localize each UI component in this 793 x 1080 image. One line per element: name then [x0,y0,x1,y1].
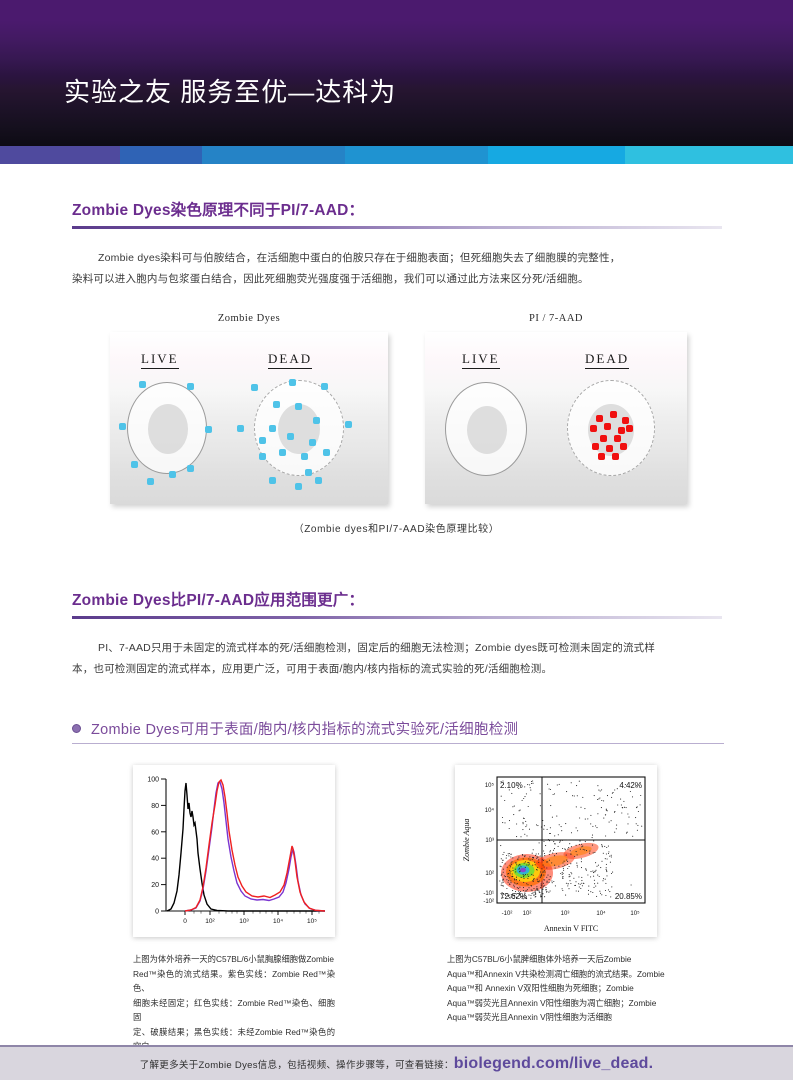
scatter-point [509,820,510,821]
scatter-point [526,824,527,825]
scatter-point [520,896,521,897]
zombie-dye-particle [260,454,265,459]
hist-ytick: 20 [151,882,159,889]
dotplot-ytick: 10⁵ [485,782,495,789]
scatter-point [540,871,541,872]
scatter-point [604,846,605,847]
scatter-point [505,893,506,894]
scatter-point [627,823,628,824]
scatter-point [533,875,534,876]
scatter-point [538,853,539,854]
diagram-zombie-dyes: LIVE DEAD [110,332,388,504]
scatter-point [550,805,551,806]
scatter-point [631,884,632,885]
scatter-point [585,868,586,869]
scatter-point [514,882,515,883]
scatter-point [513,814,514,815]
scatter-point [512,867,513,868]
scatter-point [585,841,586,842]
scatter-point [549,879,550,880]
scatter-point [621,812,622,813]
scatter-point [516,836,517,837]
section1-heading-rule [72,226,722,229]
scatter-point [616,825,617,826]
scatter-point [520,866,521,867]
scatter-point [550,876,551,877]
scatter-point [561,826,562,827]
scatter-point [626,833,627,834]
live-cell-nucleus-zombie [148,404,188,454]
zombie-dye-particle [316,478,321,483]
scatter-point [519,864,520,865]
scatter-point [529,784,530,785]
scatter-point [502,860,503,861]
dotplot-xtick: 10⁴ [596,910,606,917]
scatter-point [569,880,570,881]
scatter-point [620,799,621,800]
scatter-point [597,813,598,814]
scatter-point [554,855,555,856]
scatter-point [528,858,529,859]
scatter-point [523,890,524,891]
page-root: 实验之友 服务至优—达科为 Zombie Dyes染色原理不同于PI/7-AAD… [0,0,793,1080]
scatter-point [606,869,607,870]
scatter-point [512,890,513,891]
scatter-point [576,827,577,828]
scatter-point [541,885,542,886]
scatter-point [522,896,523,897]
scatter-point [550,833,551,834]
scatter-point [511,861,512,862]
scatter-point [603,800,604,801]
scatter-point [601,844,602,845]
scatter-point [606,853,607,854]
scatter-point [601,894,602,895]
scatter-point [549,860,550,861]
zombie-dye-particle [148,479,153,484]
scatter-point [527,884,528,885]
scatter-point [560,841,561,842]
zombie-dye-particle [324,450,329,455]
segment-blue-1 [120,146,202,164]
scatter-point [590,876,591,877]
zombie-dye-particle [290,380,295,385]
scatter-point [592,835,593,836]
pi-dye-particle [619,428,624,433]
section2-paragraph-line2: 本，也可检测固定的流式样本，应用更广泛，可用于表面/胞内/核内指标的流式实验的死… [72,659,724,680]
scatter-point [606,875,607,876]
scatter-point [532,865,533,866]
scatter-point [567,885,568,886]
section2-heading: Zombie Dyes比PI/7-AAD应用范围更广： [72,588,722,610]
scatter-point [518,869,519,870]
dotplot-caption-line-4: Aqua™弱荧光且Annexin V阳性细胞为凋亡细胞；Zombie [447,996,665,1011]
scatter-point [546,891,547,892]
scatter-point [508,853,509,854]
scatter-point [602,880,603,881]
scatter-point [515,891,516,892]
dotplot-card: Zombie Aqua Annexin V FITC -10²-10¹10²10… [455,765,657,937]
scatter-point [526,864,527,865]
scatter-point [534,878,535,879]
scatter-point [564,865,565,866]
scatter-point [640,782,641,783]
pi-dye-particle [601,436,606,441]
scatter-point [635,786,636,787]
scatter-point [579,781,580,782]
scatter-point [554,865,555,866]
scatter-point [536,853,537,854]
scatter-point [523,798,524,799]
page-title: 实验之友 服务至优—达科为 [64,72,396,109]
hist-xtick: 10² [205,918,215,925]
scatter-point [559,784,560,785]
scatter-point [637,806,638,807]
scatter-point [608,853,609,854]
scatter-point [599,797,600,798]
scatter-point [605,890,606,891]
scatter-point [538,890,539,891]
section2-paragraph-line1: PI、7-AAD只用于未固定的流式样本的死/活细胞检测，固定后的细胞无法检测；Z… [72,638,724,659]
scatter-point [581,867,582,868]
scatter-point [530,895,531,896]
scatter-point [541,875,542,876]
scatter-point [543,829,544,830]
scatter-point [531,783,532,784]
scatter-point [537,867,538,868]
scatter-point [601,789,602,790]
scatter-point [576,806,577,807]
scatter-point [590,891,591,892]
scatter-point [600,893,601,894]
histogram-caption-line-1: 上图为体外培养一天的C57BL/6小鼠胸腺细胞做Zombie [133,952,335,967]
scatter-point [511,854,512,855]
scatter-point [543,865,544,866]
scatter-point [538,862,539,863]
scatter-point [503,872,504,873]
dotplot-xlabel: Annexin V FITC [544,924,598,933]
scatter-point [531,889,532,890]
scatter-point [558,834,559,835]
scatter-point [581,846,582,847]
scatter-point [505,863,506,864]
scatter-point [505,895,506,896]
scatter-point [508,896,509,897]
scatter-point [596,866,597,867]
scatter-point [626,807,627,808]
scatter-point [599,876,600,877]
scatter-point [502,885,503,886]
scatter-point [501,796,502,797]
scatter-point [540,876,541,877]
scatter-point [544,885,545,886]
scatter-point [566,855,567,856]
scatter-point [526,898,527,899]
scatter-point [637,830,638,831]
zombie-dye-particle [288,434,293,439]
scatter-point [509,828,510,829]
scatter-point [527,784,528,785]
scatter-point [548,892,549,893]
dotplot-caption-line-2: Aqua™和Annexin V共染检测凋亡细胞的流式结果。Zombie [447,967,665,982]
scatter-point [510,872,511,873]
scatter-point [512,857,513,858]
scatter-point [544,870,545,871]
scatter-point [516,823,517,824]
zombie-dye-particle [346,422,351,427]
scatter-point [628,817,629,818]
scatter-point [566,791,567,792]
hist-ytick: 40 [151,856,159,863]
section1-heading: Zombie Dyes染色原理不同于PI/7-AAD： [72,198,722,220]
pi-dye-particle [593,444,598,449]
scatter-point [593,840,594,841]
scatter-point [506,888,507,889]
scatter-point [547,881,548,882]
scatter-point [549,788,550,789]
scatter-point [502,817,503,818]
scatter-point [562,874,563,875]
section2-heading-rule [72,616,722,619]
scatter-point [590,823,591,824]
scatter-point [605,879,606,880]
scatter-point [586,870,587,871]
scatter-point [636,823,637,824]
scatter-point [525,874,526,875]
scatter-point [541,826,542,827]
scatter-point [526,835,527,836]
scatter-point [566,860,567,861]
scatter-point [539,892,540,893]
scatter-point [570,854,571,855]
scatter-point [562,862,563,863]
zombie-dye-particle [280,450,285,455]
scatter-point [530,860,531,861]
scatter-point [522,854,523,855]
scatter-point [564,861,565,862]
scatter-point [509,789,510,790]
section2-heading-block: Zombie Dyes比PI/7-AAD应用范围更广： [72,588,722,619]
scatter-point [608,889,609,890]
scatter-point [540,805,541,806]
scatter-point [502,862,503,863]
scatter-point [588,894,589,895]
scatter-point [594,852,595,853]
scatter-point [512,873,513,874]
zombie-dye-particle [270,478,275,483]
footer-link[interactable]: biolegend.com/live_dead. [454,1055,654,1073]
scatter-point [606,867,607,868]
scatter-point [530,790,531,791]
scatter-point [527,862,528,863]
scatter-point [540,895,541,896]
section1-paragraph: Zombie dyes染料可与伯胺结合，在活细胞中蛋白的伯胺只存在于细胞表面；但… [72,248,724,290]
panel-title-zombie-dyes: Zombie Dyes [110,313,388,324]
scatter-point [571,782,572,783]
scatter-point [556,853,557,854]
dotplot-ytick: 10³ [485,838,494,844]
scatter-point [523,823,524,824]
scatter-point [545,887,546,888]
scatter-point [592,845,593,846]
scatter-point [546,877,547,878]
scatter-point [506,879,507,880]
scatter-point [574,885,575,886]
scatter-point [581,880,582,881]
zombie-dye-particle [132,462,137,467]
scatter-point [603,853,604,854]
scatter-point [537,890,538,891]
scatter-point [533,892,534,893]
scatter-point [576,851,577,852]
scatter-point [524,818,525,819]
scatter-point [588,886,589,887]
diagram-pi-7aad: LIVE DEAD [425,332,687,504]
scatter-point [503,783,504,784]
scatter-point [597,785,598,786]
scatter-point [595,886,596,887]
dotplot-ytick: 10² [485,871,494,877]
scatter-point [606,864,607,865]
scatter-point [515,893,516,894]
scatter-point [614,832,615,833]
scatter-point [512,876,513,877]
segment-purple-blue [0,146,120,164]
scatter-point [550,827,551,828]
scatter-point [517,887,518,888]
scatter-point [522,822,523,823]
scatter-point [637,825,638,826]
scatter-point [612,872,613,873]
scatter-point [580,807,581,808]
scatter-point [528,806,529,807]
scatter-point [586,850,587,851]
scatter-point [576,845,577,846]
scatter-point [617,788,618,789]
scatter-point [537,879,538,880]
scatter-point [539,842,540,843]
zombie-dye-particle [302,454,307,459]
scatter-point [570,872,571,873]
zombie-dye-particle [252,385,257,390]
scatter-point [535,894,536,895]
scatter-point [544,825,545,826]
quadrant-label-upper-right: 4.42% [619,781,642,790]
scatter-point [582,797,583,798]
pi-dye-particle [623,418,628,423]
scatter-point [588,890,589,891]
scatter-point [513,885,514,886]
scatter-point [606,871,607,872]
scatter-point [506,855,507,856]
scatter-point [624,807,625,808]
scatter-point [563,868,564,869]
scatter-point [540,856,541,857]
scatter-point [606,810,607,811]
scatter-point [577,854,578,855]
scatter-point [577,865,578,866]
scatter-point [510,871,511,872]
scatter-point [579,844,580,845]
scatter-point [535,896,536,897]
scatter-point [538,859,539,860]
scatter-point [508,873,509,874]
scatter-point [598,790,599,791]
scatter-point [614,811,615,812]
scatter-point [543,841,544,842]
scatter-point [587,818,588,819]
scatter-point [524,892,525,893]
scatter-point [522,829,523,830]
scatter-point [502,822,503,823]
scatter-point [640,795,641,796]
segment-blue-2 [202,146,345,164]
scatter-point [567,839,568,840]
pi-dye-particle [627,426,632,431]
scatter-point [523,887,524,888]
scatter-point [525,861,526,862]
scatter-point [510,866,511,867]
bullet-icon [72,724,81,733]
scatter-point [568,883,569,884]
scatter-point [547,784,548,785]
scatter-point [584,849,585,850]
scatter-point [554,835,555,836]
zombie-dye-particle [274,402,279,407]
scatter-point [540,896,541,897]
scatter-point [589,851,590,852]
scatter-point [537,857,538,858]
scatter-point [579,886,580,887]
scatter-point [535,891,536,892]
scatter-point [594,795,595,796]
scatter-point [601,807,602,808]
scatter-point [600,867,601,868]
scatter-point [577,795,578,796]
scatter-point [627,813,628,814]
histogram-svg: 020406080100 010²10³10⁴10⁵ [133,765,335,937]
scatter-point [562,876,563,877]
scatter-point [598,798,599,799]
scatter-point [517,883,518,884]
live-cell-nucleus-pi [467,406,507,454]
dotplot-xtick: 10⁵ [630,910,640,917]
scatter-point [509,853,510,854]
scatter-point [503,869,504,870]
scatter-point [514,879,515,880]
scatter-point [616,828,617,829]
scatter-point [508,882,509,883]
section1-paragraph-line1: Zombie dyes染料可与伯胺结合，在活细胞中蛋白的伯胺只存在于细胞表面；但… [72,248,724,269]
scatter-point [509,877,510,878]
scatter-point [501,894,502,895]
scatter-point [635,817,636,818]
scatter-point [596,896,597,897]
scatter-point [532,857,533,858]
scatter-point [578,876,579,877]
zombie-dye-particle [322,384,327,389]
zombie-dye-particle [296,404,301,409]
scatter-point [621,804,622,805]
pi-dye-particle [615,436,620,441]
scatter-point [606,809,607,810]
zombie-dye-particle [270,426,275,431]
scatter-point [502,897,503,898]
scatter-point [543,883,544,884]
scatter-point [552,853,553,854]
scatter-point [525,867,526,868]
scatter-point [614,789,615,790]
